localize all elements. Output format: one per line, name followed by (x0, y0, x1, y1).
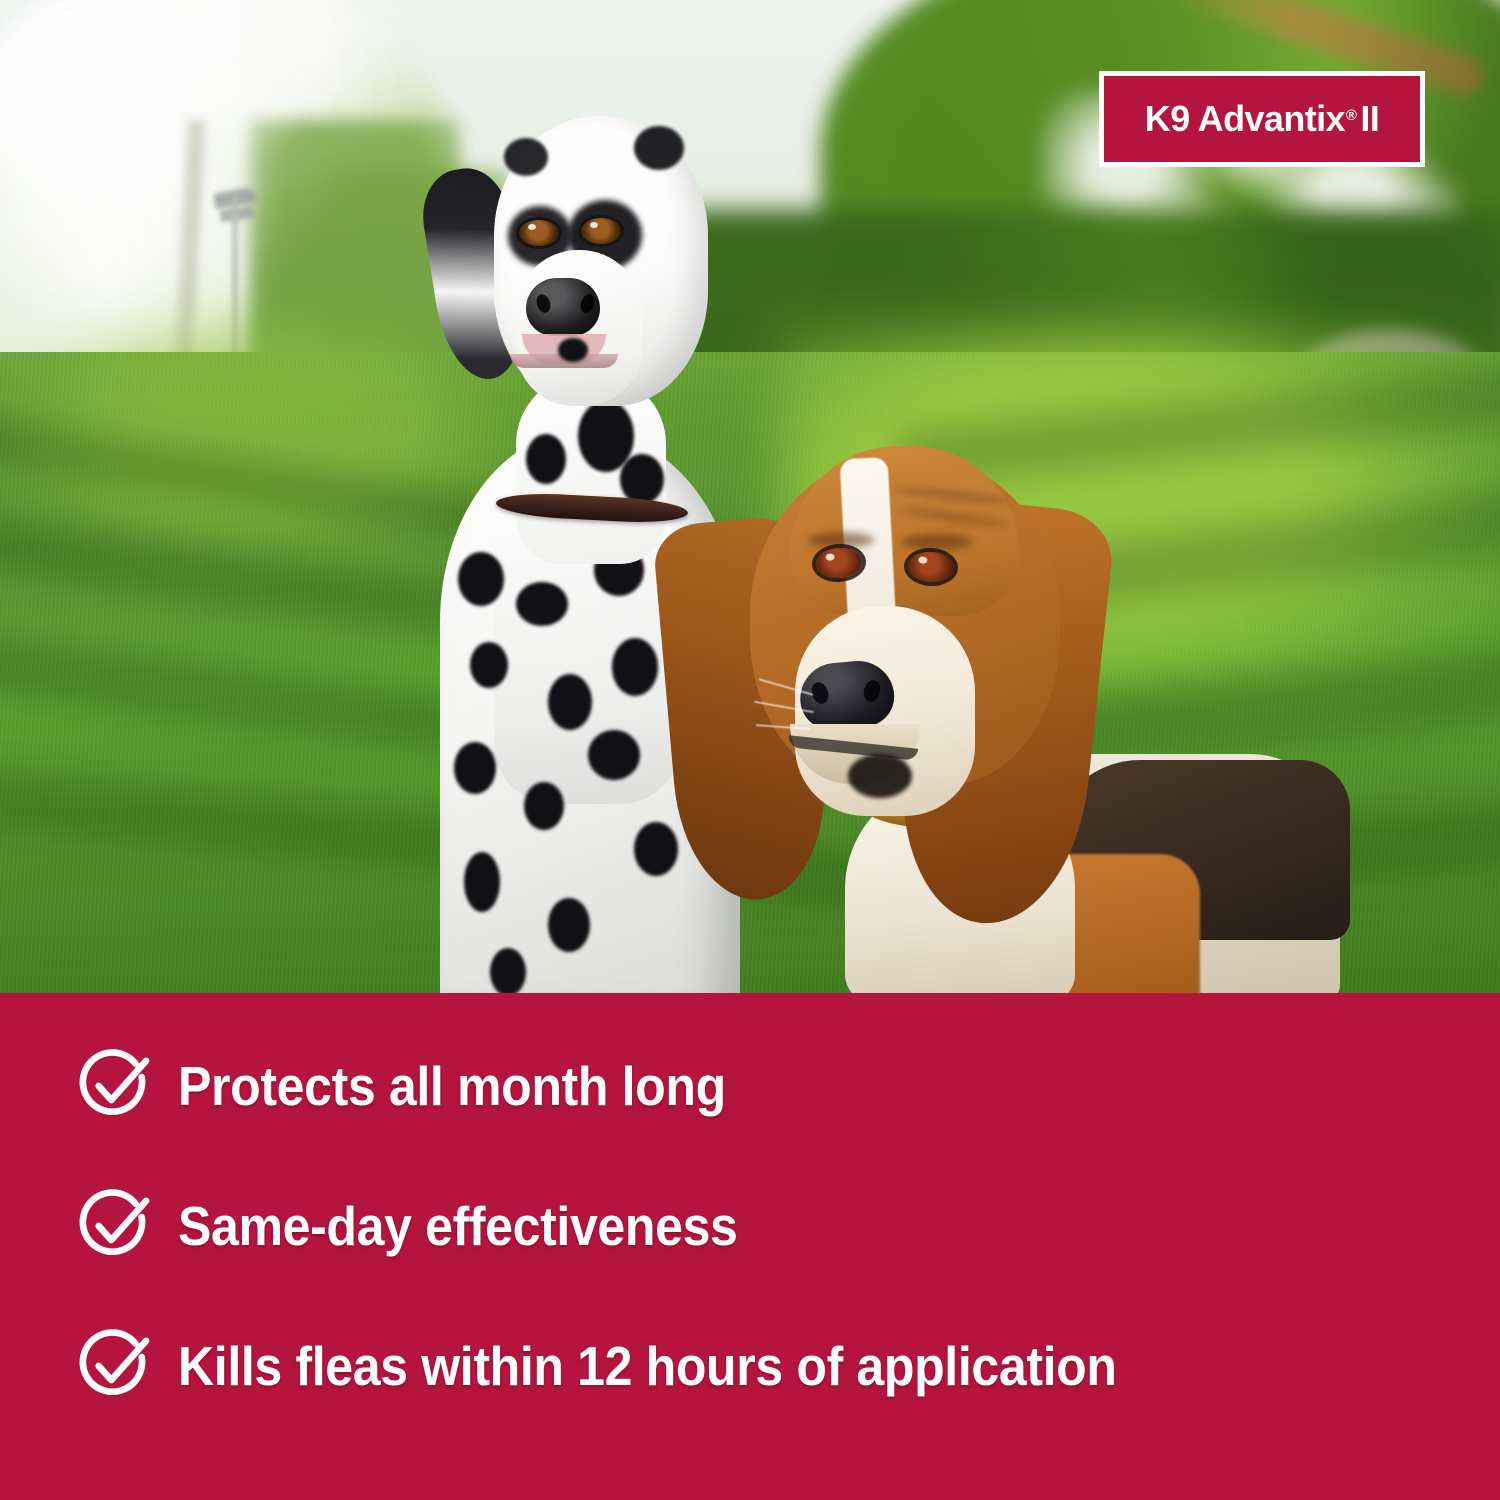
dalmatian-spot (526, 434, 566, 484)
k9-advantix-logo: K9 Advantix®II (1099, 71, 1425, 167)
dalmatian-spot (454, 742, 496, 794)
list-item: Same-day effectiveness (78, 1188, 1478, 1264)
dalmatian-spot (490, 948, 526, 993)
circle-check-icon (78, 1189, 152, 1263)
dalmatian-spot (464, 852, 500, 912)
logo-text: K9 Advantix®II (1145, 98, 1379, 140)
dalmatian-spot (548, 898, 590, 952)
dalmatian-spot (548, 674, 592, 730)
benefit-label: Protects all month long (178, 1059, 726, 1114)
benefit-label: Same-day effectiveness (178, 1199, 738, 1254)
benefit-label: Kills fleas within 12 hours of applicati… (178, 1339, 1117, 1394)
list-item: Kills fleas within 12 hours of applicati… (78, 1328, 1478, 1404)
basset-jowl (848, 754, 912, 798)
basset-head-dome (790, 446, 1020, 616)
circle-check-icon (78, 1049, 152, 1123)
benefits-banner: Protects all month long Same-day effecti… (0, 993, 1500, 1500)
product-feature-image: K9 Advantix®II Protects all month long S… (0, 0, 1500, 1500)
dalmatian-spot (504, 138, 548, 176)
dalmatian-spot (516, 582, 568, 626)
logo-brand-name: K9 Advantix (1145, 98, 1345, 140)
basset-brow-right (902, 534, 972, 550)
dalmatian-spot (634, 126, 684, 170)
logo-version-suffix: II (1360, 98, 1379, 140)
dalmatian-spot (524, 782, 564, 830)
registered-trademark-icon: ® (1346, 107, 1356, 124)
dalmatian-eye-left (519, 220, 559, 246)
basset-brow-left (808, 532, 874, 548)
list-item: Protects all month long (78, 1048, 1478, 1124)
logo-inner-panel: K9 Advantix®II (1104, 76, 1420, 162)
dalmatian-spot (458, 552, 504, 606)
dalmatian-spot (558, 338, 588, 362)
dalmatian-eye-right (581, 218, 621, 244)
benefits-list: Protects all month long Same-day effecti… (78, 1048, 1478, 1404)
hero-photo: K9 Advantix®II (0, 0, 1500, 993)
basset-hound-dog (640, 424, 1340, 993)
dalmatian-spot (588, 730, 640, 780)
circle-check-icon (78, 1329, 152, 1403)
dalmatian-spot (470, 642, 508, 688)
